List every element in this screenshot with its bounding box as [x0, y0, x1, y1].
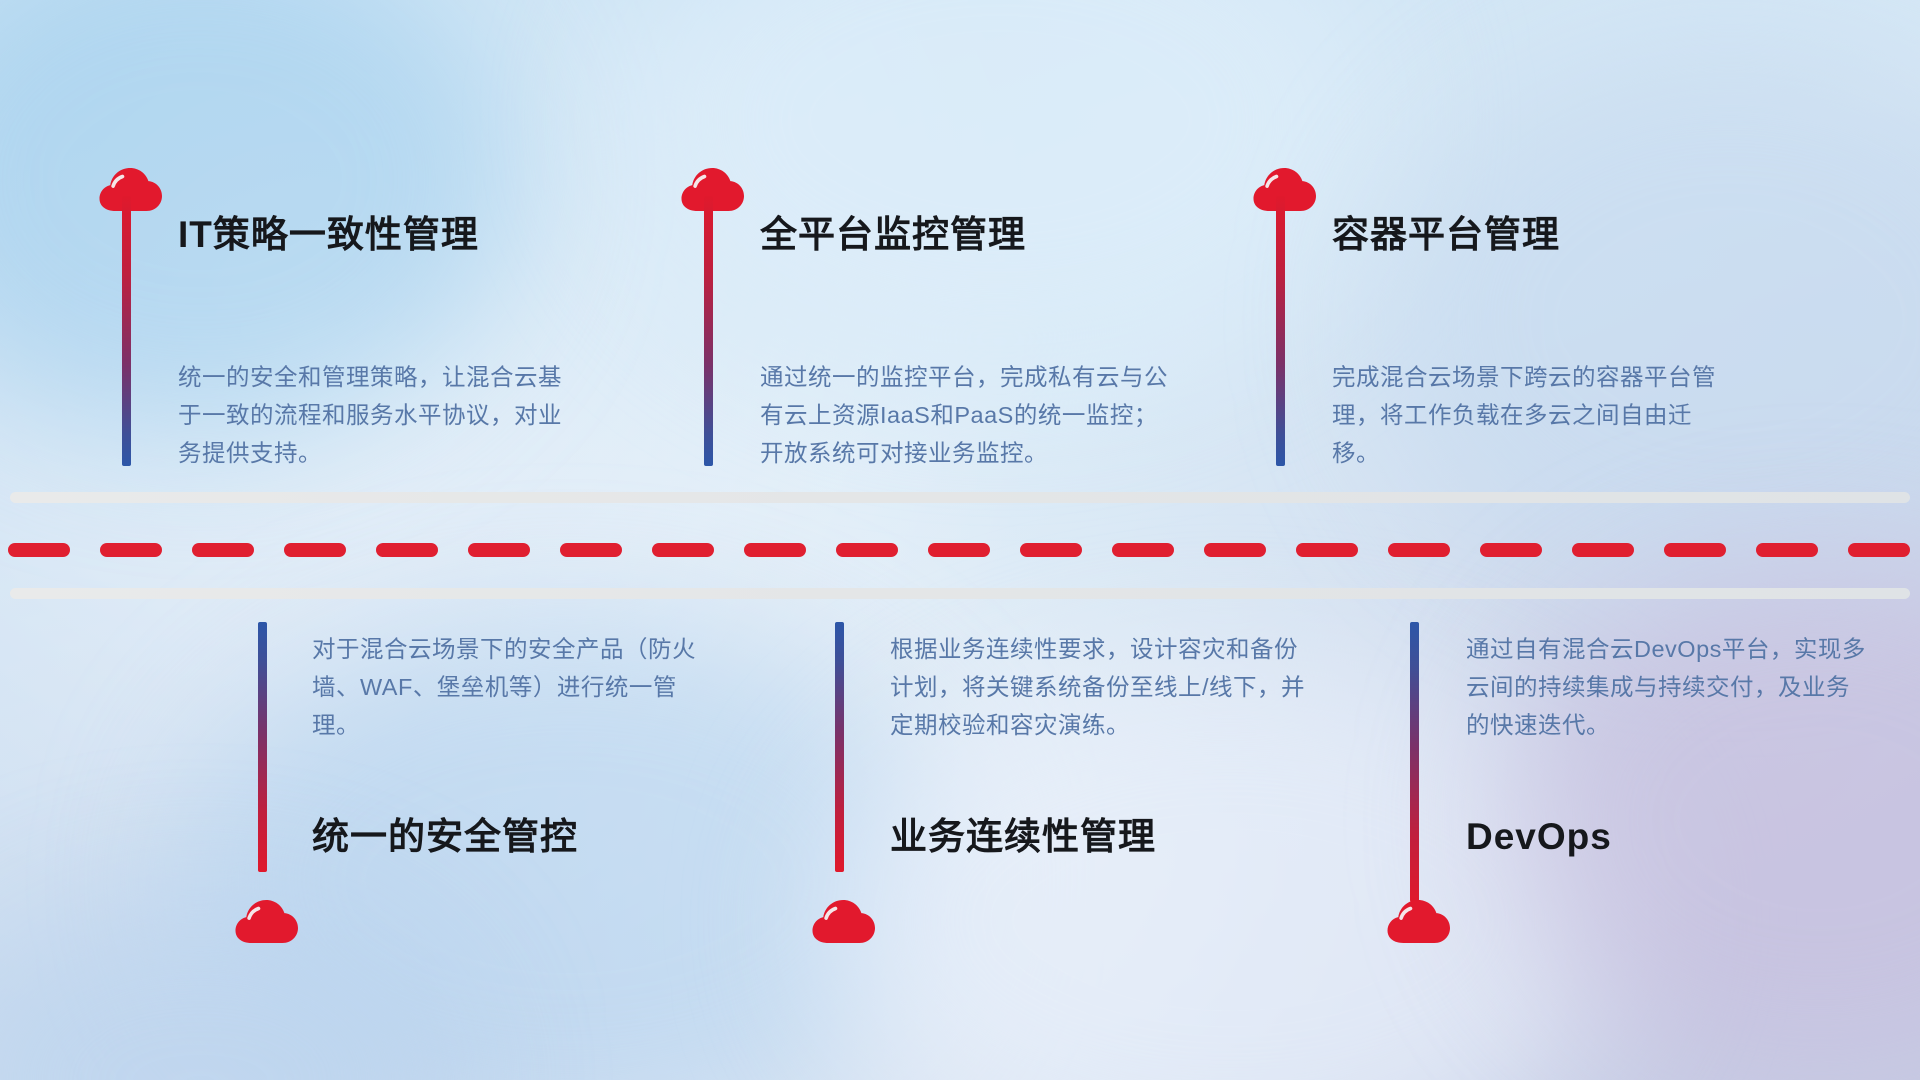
road-dash — [1664, 543, 1726, 557]
road-dash — [744, 543, 806, 557]
item-body: 完成混合云场景下跨云的容器平台管理，将工作负载在多云之间自由迁移。 — [1332, 358, 1732, 472]
road-dash — [284, 543, 346, 557]
item-title: 业务连续性管理 — [890, 818, 1156, 855]
item-title: 容器平台管理 — [1332, 216, 1560, 253]
item-title: 统一的安全管控 — [312, 818, 578, 855]
road-dash — [376, 543, 438, 557]
road-dash — [468, 543, 530, 557]
road-dash — [928, 543, 990, 557]
road-dash — [1020, 543, 1082, 557]
road-dash — [1204, 543, 1266, 557]
road-edge-line-bottom — [10, 588, 1910, 599]
road-center-dashes — [0, 543, 1920, 557]
background-blob — [1380, 40, 1920, 600]
road-dash — [100, 543, 162, 557]
road-dash — [1572, 543, 1634, 557]
item-body: 统一的安全和管理策略，让混合云基于一致的流程和服务水平协议，对业务提供支持。 — [178, 358, 578, 472]
item-body: 通过统一的监控平台，完成私有云与公有云上资源IaaS和PaaS的统一监控；开放系… — [760, 358, 1180, 472]
road-dash — [1112, 543, 1174, 557]
road-dash — [1296, 543, 1358, 557]
road-dash — [1848, 543, 1910, 557]
road-dash — [1480, 543, 1542, 557]
timeline-stem — [835, 622, 844, 872]
road-edge-line-top — [10, 492, 1910, 503]
item-body: 根据业务连续性要求，设计容灾和备份计划，将关键系统备份至线上/线下，并定期校验和… — [890, 630, 1310, 744]
timeline-stem — [704, 196, 713, 466]
timeline-stem — [122, 196, 131, 466]
timeline-stem — [258, 622, 267, 872]
cloud-pin-icon — [1384, 890, 1454, 944]
road-dash — [836, 543, 898, 557]
road-dash — [192, 543, 254, 557]
road-dash — [652, 543, 714, 557]
timeline-stem — [1276, 196, 1285, 466]
road-dash — [1388, 543, 1450, 557]
cloud-pin-icon — [678, 158, 748, 212]
background-blob — [0, 900, 460, 1080]
timeline-stem — [1410, 622, 1419, 902]
road-dash — [1756, 543, 1818, 557]
item-title: DevOps — [1466, 818, 1612, 855]
cloud-pin-icon — [809, 890, 879, 944]
item-body: 通过自有混合云DevOps平台，实现多云间的持续集成与持续交付，及业务的快速迭代… — [1466, 630, 1866, 744]
cloud-pin-icon — [232, 890, 302, 944]
cloud-pin-icon — [96, 158, 166, 212]
road-dash — [560, 543, 622, 557]
item-body: 对于混合云场景下的安全产品（防火墙、WAF、堡垒机等）进行统一管理。 — [312, 630, 712, 744]
road-dash — [8, 543, 70, 557]
item-title: IT策略一致性管理 — [178, 216, 479, 253]
infographic-canvas: IT策略一致性管理 统一的安全和管理策略，让混合云基于一致的流程和服务水平协议，… — [0, 0, 1920, 1080]
cloud-pin-icon — [1250, 158, 1320, 212]
item-title: 全平台监控管理 — [760, 216, 1026, 253]
